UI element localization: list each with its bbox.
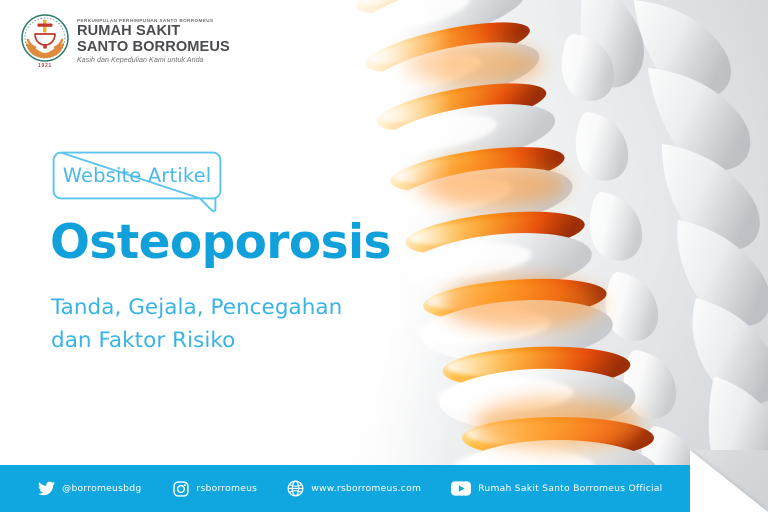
logo-wordmark: PERKUMPULAN PERHIMPUNAN SANTO BORROMEUS … [77,17,230,65]
logo-year: 1921 [20,63,70,69]
social-footer-bar: @borromeusbdg rsborromeus [0,465,690,512]
footer-label-youtube: Rumah Sakit Santo Borromeus Official [478,483,662,494]
logo-tagline: Kasih dan Kepedulian Kami untuk Anda [77,56,230,65]
page-subtitle-line-2: dan Faktor Risiko [51,325,342,358]
page-title: Osteoporosis [50,219,391,266]
page-subtitle-line-1: Tanda, Gejala, Pencegahan [51,292,342,325]
footer-label-website: www.rsborromeus.com [311,483,421,494]
footer-label-instagram: rsborromeus [196,483,257,494]
poster-canvas: 1921 PERKUMPULAN PERHIMPUNAN SANTO BORRO… [0,0,768,512]
borromeus-hands-chalice-logo-icon: 1921 [20,13,70,69]
footer-label-twitter: @borromeusbdg [62,483,141,494]
footer-item-twitter[interactable]: @borromeusbdg [38,465,141,512]
youtube-icon [451,481,471,496]
instagram-icon [173,481,189,497]
twitter-icon [38,481,55,496]
footer-item-website[interactable]: www.rsborromeus.com [287,465,421,512]
hospital-logo: 1921 PERKUMPULAN PERHIMPUNAN SANTO BORRO… [20,13,230,69]
globe-icon [287,480,304,497]
footer-item-youtube[interactable]: Rumah Sakit Santo Borromeus Official [451,465,662,512]
logo-line-1: RUMAH SAKIT [77,24,230,39]
page-fold-triangle [690,450,768,512]
page-fold-corner [690,450,768,512]
website-artikel-badge: Website Artikel [52,151,222,200]
page-subtitle: Tanda, Gejala, Pencegahan dan Faktor Ris… [51,292,342,357]
logo-line-2: SANTO BORROMEUS [77,40,230,55]
footer-item-instagram[interactable]: rsborromeus [173,465,257,512]
badge-label: Website Artikel [52,151,222,200]
